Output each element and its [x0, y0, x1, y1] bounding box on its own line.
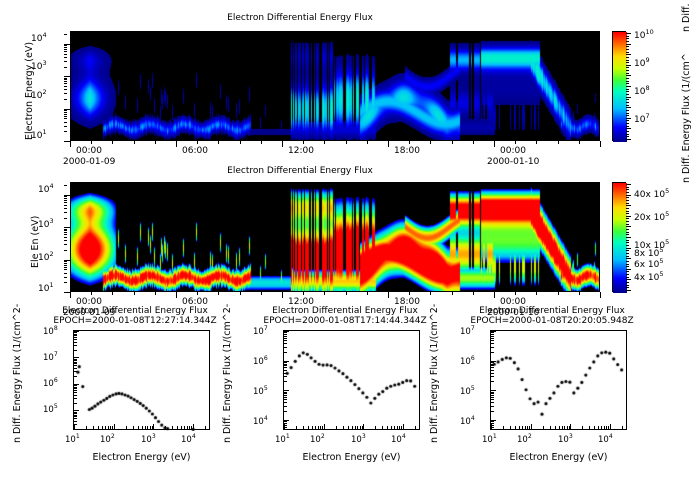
spectrum1-plot[interactable]	[73, 330, 210, 430]
panel2-cbar-label-1: 20x 105	[634, 213, 669, 223]
spectrum1-ytick-1: 107	[43, 353, 58, 363]
spectrum2-ytick-1: 106	[253, 357, 268, 367]
spectrum2-ytick-3: 104	[253, 417, 268, 427]
spectrum3-xtick-2: 103	[558, 435, 573, 445]
panel1-xtick-2: 12:00	[288, 146, 314, 156]
figure-canvas: Electron Differential Energy Flux Electr…	[0, 0, 697, 492]
spectrum1-ytick-2: 106	[43, 379, 58, 389]
spectrum2-subtitle: EPOCH=2000-01-08T17:14:44.344Z	[245, 316, 445, 326]
spectrum3-ytick-1: 106	[460, 357, 475, 367]
spectrum1-xtick-1: 102	[100, 435, 115, 445]
panel1-cbar-label-2: 108	[634, 87, 650, 97]
spectrum1-ytick-3: 105	[43, 405, 58, 415]
panel1-ytick-4: 104	[31, 34, 47, 44]
spectrum2-ytick-2: 105	[253, 387, 268, 397]
spectrum3-subtitle: EPOCH=2000-01-08T20:20:05.948Z	[452, 316, 652, 326]
spectrum1-ylabel: n Diff. Energy Flux (1/(cm^2-	[12, 304, 23, 443]
panel2-cbar-label-4: 6x 105	[634, 260, 664, 270]
spectrum1-title: Electron Differential Energy Flux	[35, 306, 235, 316]
spectrum3-title: Electron Differential Energy Flux	[452, 306, 652, 316]
panel1-xtick-4: 00:00	[500, 146, 526, 156]
panel1-xtick-0: 00:00	[76, 146, 102, 156]
spectrum3-ytick-2: 105	[460, 387, 475, 397]
spectrum2-xlabel: Electron Energy (eV)	[283, 452, 420, 463]
spectrum3-xtick-3: 104	[598, 435, 613, 445]
spectrum3-ytick-3: 104	[460, 417, 475, 427]
spectrum3-xtick-1: 102	[517, 435, 532, 445]
spectrum3-plot[interactable]	[490, 330, 627, 430]
spectrum1-ytick-0: 108	[43, 327, 58, 337]
spectrum1-subtitle: EPOCH=2000-01-08T12:27:14.344Z	[35, 316, 235, 326]
spectrum2-xtick-2: 103	[351, 435, 366, 445]
panel1-xtick-1: 06:00	[182, 146, 208, 156]
spectrum2-title: Electron Differential Energy Flux	[245, 306, 445, 316]
panel1-cbar-label-0: 1010	[634, 31, 654, 41]
panel2-ytick-3: 103	[38, 220, 54, 230]
panel2-title: Electron Differential Energy Flux	[0, 166, 600, 176]
spectrum2-plot[interactable]	[283, 330, 420, 430]
panel1-ytick-1: 101	[31, 131, 47, 141]
spectrum2-ylabel: n Diff. Energy Flux (1/(cm^2-	[222, 304, 233, 443]
spectrum1-xtick-0: 101	[65, 435, 80, 445]
panel2-ytick-2: 102	[38, 253, 54, 263]
spectrum3-ylabel: n Diff. Energy Flux (1/(cm^2-	[429, 304, 440, 443]
panel2-colorbar[interactable]	[612, 182, 626, 292]
spectrogram-top-plot[interactable]	[70, 31, 600, 141]
spectrum2-xtick-0: 101	[275, 435, 290, 445]
spectrum3-xtick-0: 101	[482, 435, 497, 445]
panel1-ytick-2: 102	[31, 91, 47, 101]
panel2-cbar-label-5: 4x 105	[634, 273, 664, 283]
spectrum1-xlabel: Electron Energy (eV)	[73, 452, 210, 463]
spectrum2-xtick-3: 104	[391, 435, 406, 445]
spectrum3-ytick-0: 107	[460, 327, 475, 337]
spectrum2-xtick-1: 102	[310, 435, 325, 445]
panel2-colorbar-label: n Diff. Energy Flux (1/(cm^	[681, 53, 692, 183]
panel1-colorbar[interactable]	[612, 31, 626, 141]
panel1-cbar-label-1: 109	[634, 59, 650, 69]
spectrogram-bottom-plot[interactable]	[70, 182, 600, 292]
panel2-cbar-label-0: 40x 105	[634, 190, 669, 200]
panel1-colorbar-label: n Diff. Energy Flux (1/(cm^	[681, 0, 692, 32]
spectrum2-ytick-0: 107	[253, 327, 268, 337]
panel1-xtick-3: 18:00	[394, 146, 420, 156]
spectrum1-xtick-3: 104	[181, 435, 196, 445]
panel2-ytick-4: 104	[38, 185, 54, 195]
panel1-ytick-3: 103	[31, 62, 47, 72]
spectrum3-xlabel: Electron Energy (eV)	[490, 452, 627, 463]
panel1-cbar-label-3: 107	[634, 115, 650, 125]
spectrum1-xtick-2: 103	[141, 435, 156, 445]
panel2-ytick-1: 101	[38, 284, 54, 294]
panel1-title: Electron Differential Energy Flux	[0, 13, 600, 23]
